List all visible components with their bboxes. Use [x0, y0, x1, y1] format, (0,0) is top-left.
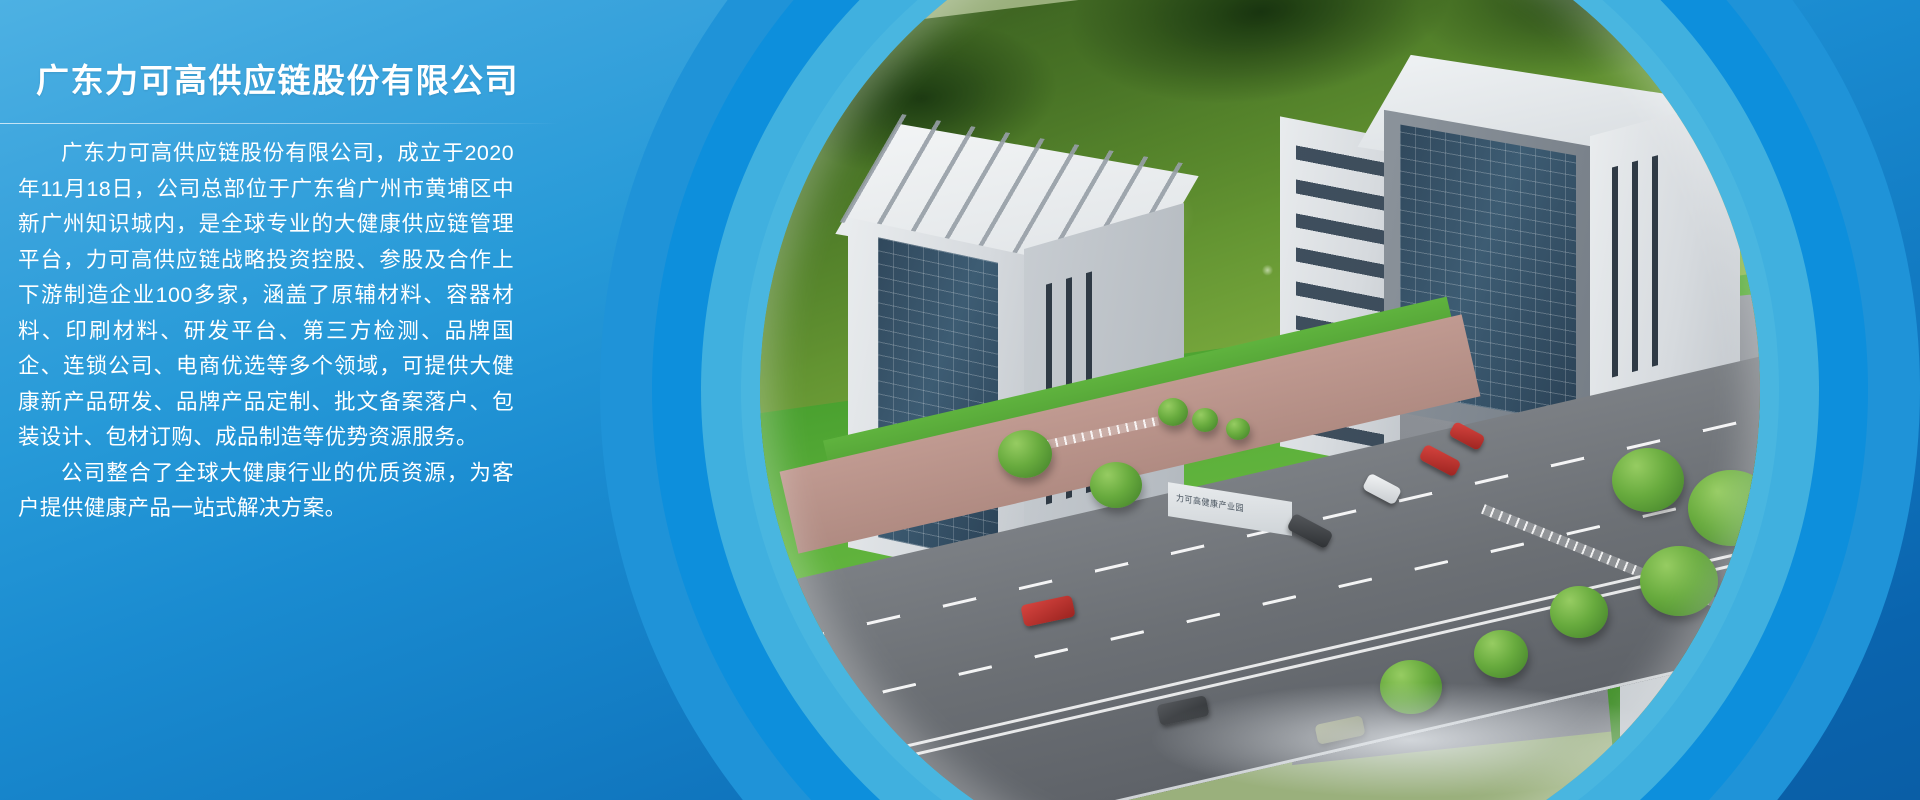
tower3-window-slots [1612, 152, 1668, 377]
photo-scene: 力可高健康产业园 [760, 0, 1760, 800]
tree [1640, 546, 1718, 616]
tree [1158, 398, 1188, 426]
paragraph-1: 广东力可高供应链股份有限公司，成立于2020年11月18日，公司总部位于广东省广… [18, 136, 514, 456]
title-divider [0, 123, 560, 124]
park-sign-text: 力可高健康产业园 [1176, 492, 1244, 515]
tree [1226, 418, 1250, 440]
tree [998, 430, 1052, 478]
tree [1192, 408, 1218, 432]
photo-circle-mask: 力可高健康产业园 [760, 0, 1760, 800]
road-haze [1060, 660, 1760, 800]
company-profile-banner: 力可高健康产业园 [0, 0, 1920, 800]
paragraph-2: 公司整合了全球大健康行业的优质资源，为客户提供健康产品一站式解决方案。 [18, 456, 514, 527]
tree [1612, 448, 1684, 512]
industrial-park-photo: 力可高健康产业园 [760, 0, 1760, 800]
tree [1090, 462, 1142, 508]
tree [1550, 586, 1608, 638]
company-description: 广东力可高供应链股份有限公司，成立于2020年11月18日，公司总部位于广东省广… [18, 136, 514, 527]
text-content-block: 广东力可高供应链股份有限公司 广东力可高供应链股份有限公司，成立于2020年11… [0, 0, 620, 800]
page-title: 广东力可高供应链股份有限公司 [36, 54, 519, 102]
